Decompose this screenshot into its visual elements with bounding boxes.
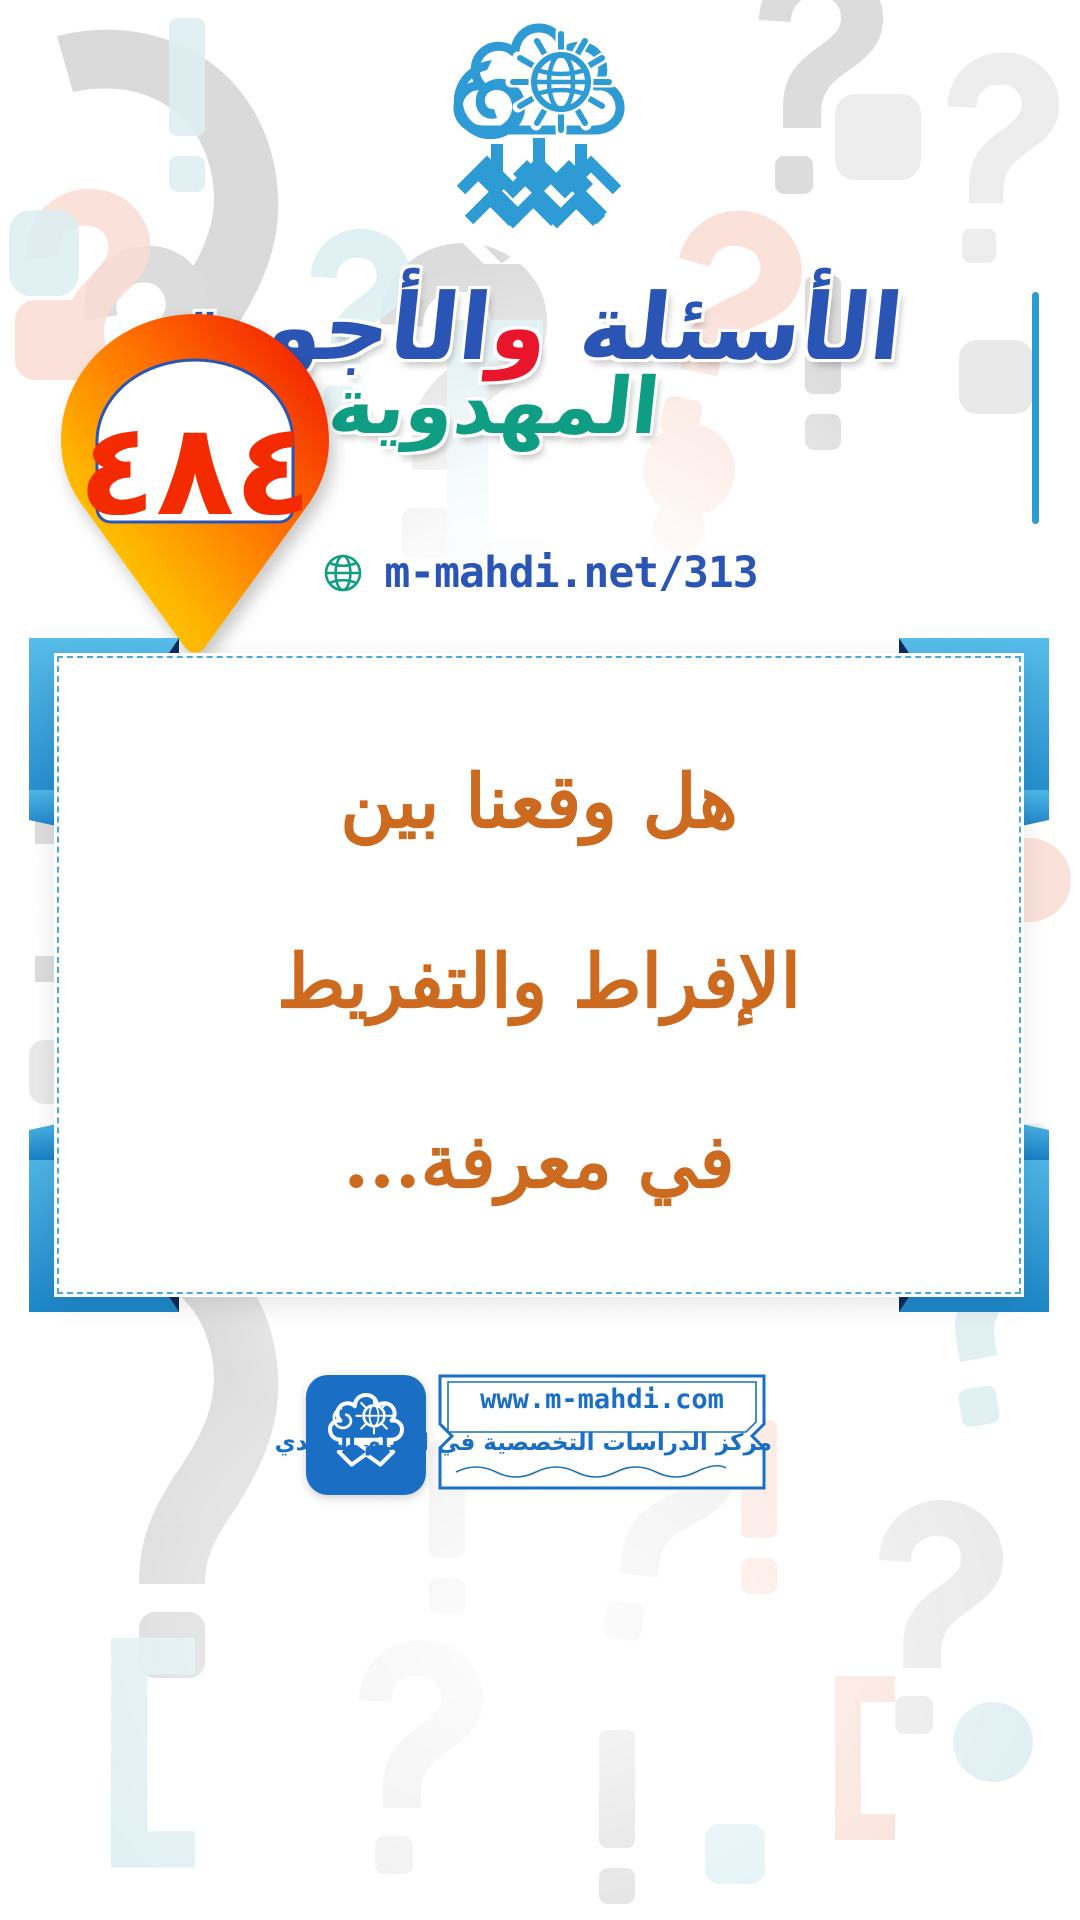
footer-website-url[interactable]: www.m-mahdi.com	[433, 1384, 773, 1415]
question-card-body: هل وقعنا بين الإفراط والتفريط في معرفة..…	[58, 656, 1022, 1294]
footer-website-banner[interactable]: www.m-mahdi.com مركز الدراسات التخصصية ف…	[433, 1370, 773, 1500]
site-url-text[interactable]: m-mahdi.net/313	[385, 548, 758, 598]
footer: www.m-mahdi.com مركز الدراسات التخصصية ف…	[0, 1350, 1080, 1520]
question-number-text: ٤٨٤	[46, 300, 346, 660]
islamic-ornament-globe-logo-icon	[410, 14, 670, 264]
question-card: هل وقعنا بين الإفراط والتفريط في معرفة..…	[30, 630, 1050, 1320]
footer-center-name: مركز الدراسات التخصصية في الإمام المهدي	[433, 1430, 773, 1456]
header-logo	[410, 14, 670, 264]
question-line-3: في معرفة...	[120, 1121, 960, 1204]
question-number-badge: ٤٨٤	[46, 300, 346, 660]
question-text: هل وقعنا بين الإفراط والتفريط في معرفة..…	[120, 712, 960, 1252]
question-line-1: هل وقعنا بين	[120, 761, 960, 844]
question-line-2: الإفراط والتفريط	[120, 941, 960, 1024]
